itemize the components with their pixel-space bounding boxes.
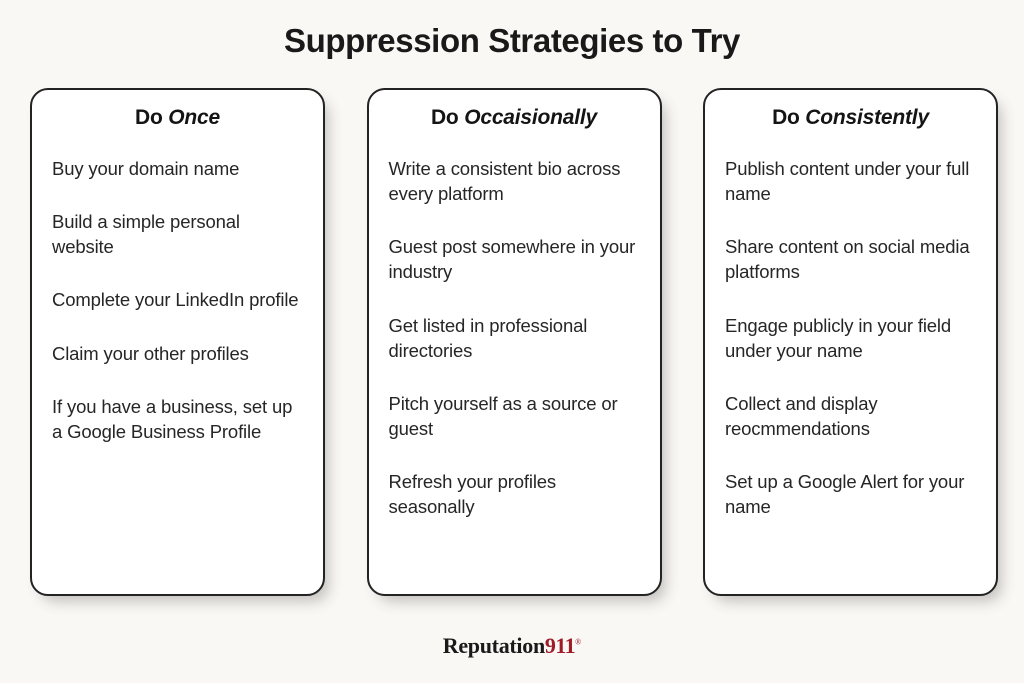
strategy-cards-row: Do Once Buy your domain name Build a sim… — [30, 88, 998, 596]
card-header-emphasis: Once — [168, 106, 220, 129]
brand-logo: Reputation911® — [0, 633, 1024, 659]
list-item: Get listed in professional directories — [389, 313, 640, 363]
registered-trademark-icon: ® — [575, 638, 581, 647]
list-item: Engage publicly in your field under your… — [725, 313, 976, 363]
strategy-card-do-once: Do Once Buy your domain name Build a sim… — [30, 88, 325, 596]
card-header-do-occasionally: Do Occaisionally — [389, 106, 640, 130]
brand-number: 911 — [545, 633, 575, 658]
list-item: Guest post somewhere in your industry — [389, 234, 640, 284]
card-header-prefix: Do — [135, 106, 168, 129]
list-item: Build a simple personal website — [52, 209, 303, 259]
list-item: Complete your LinkedIn profile — [52, 287, 303, 312]
strategy-card-do-consistently: Do Consistently Publish content under yo… — [703, 88, 998, 596]
list-item: Claim your other profiles — [52, 341, 303, 366]
list-item: Set up a Google Alert for your name — [725, 469, 976, 519]
card-header-emphasis: Consistently — [805, 106, 929, 129]
list-item: If you have a business, set up a Google … — [52, 394, 303, 444]
card-header-do-consistently: Do Consistently — [725, 106, 976, 130]
list-item: Refresh your profiles seasonally — [389, 469, 640, 519]
strategy-card-do-occasionally: Do Occaisionally Write a consistent bio … — [367, 88, 662, 596]
card-header-emphasis: Occaisionally — [464, 106, 597, 129]
list-item: Buy your domain name — [52, 156, 303, 181]
card-item-list: Buy your domain name Build a simple pers… — [52, 156, 303, 444]
list-item: Collect and display reocmmendations — [725, 391, 976, 441]
card-header-prefix: Do — [772, 106, 805, 129]
list-item: Share content on social media platforms — [725, 234, 976, 284]
page-title: Suppression Strategies to Try — [0, 22, 1024, 60]
list-item: Publish content under your full name — [725, 156, 976, 206]
card-item-list: Write a consistent bio across every plat… — [389, 156, 640, 520]
list-item: Pitch yourself as a source or guest — [389, 391, 640, 441]
card-header-prefix: Do — [431, 106, 464, 129]
list-item: Write a consistent bio across every plat… — [389, 156, 640, 206]
card-header-do-once: Do Once — [52, 106, 303, 130]
brand-name: Reputation — [443, 633, 545, 658]
card-item-list: Publish content under your full name Sha… — [725, 156, 976, 520]
